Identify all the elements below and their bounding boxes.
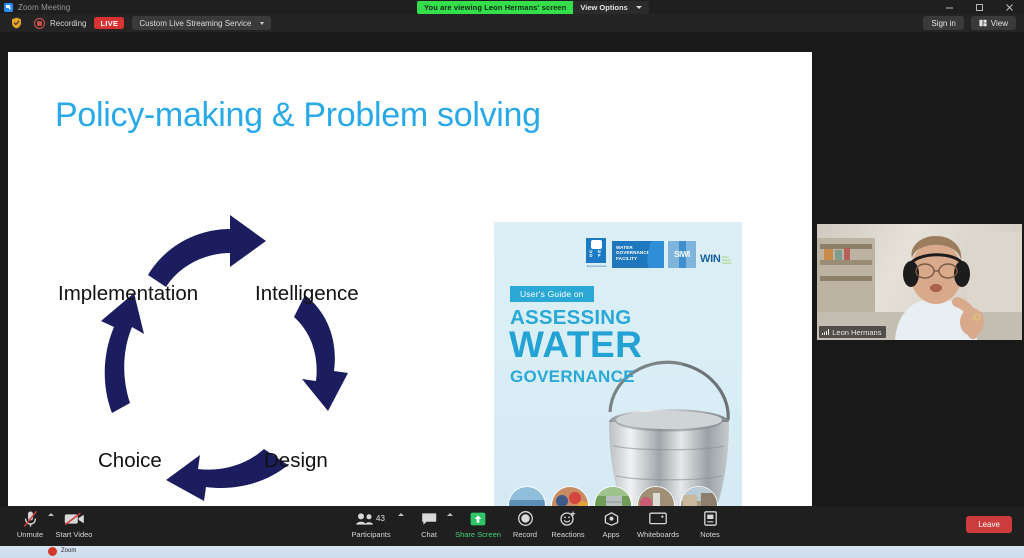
camera-muted-icon	[64, 509, 85, 528]
view-options-label: View Options	[580, 3, 627, 12]
win-logo-text: WIN	[700, 253, 720, 265]
taskbar-app-icon[interactable]	[48, 547, 57, 556]
record-circle-icon	[518, 509, 533, 528]
screen-share-banner: You are viewing Leon Hermans' screen Vie…	[417, 1, 649, 14]
shared-screen-slide: Policy-making & Problem solving Implemen…	[8, 52, 812, 509]
chevron-down-icon	[636, 6, 642, 9]
chevron-down-icon	[260, 22, 264, 25]
book-cover-line3: GOVERNANCE	[510, 367, 635, 387]
undp-letters: U N D P	[587, 250, 605, 258]
zoom-meeting-window: Zoom Meeting You are viewing Leon Herman…	[0, 0, 1024, 558]
book-cover-image: U N D P Empowered lives. WATER GOVERNANC…	[494, 222, 742, 509]
win-logo-tail: WaterIntegrityNetwork	[722, 256, 732, 265]
shield-security-icon[interactable]	[11, 17, 22, 29]
svg-text:43: 43	[376, 514, 385, 523]
share-banner-message: You are viewing Leon Hermans' screen	[417, 1, 573, 14]
policy-cycle-diagram: Implementation Intelligence Design Choic…	[40, 187, 400, 507]
recording-label: Recording	[50, 19, 86, 28]
siwi-logo-text: SIWI	[674, 250, 690, 259]
chat-bubble-icon	[421, 509, 438, 528]
start-video-button[interactable]: Start Video	[46, 509, 102, 539]
leave-button[interactable]: Leave	[966, 516, 1012, 533]
participant-webcam-feed	[817, 224, 1022, 340]
cycle-stage-design: Design	[264, 449, 328, 473]
slide-title: Policy-making & Problem solving	[55, 96, 541, 135]
recording-bar: Recording LIVE Custom Live Streaming Ser…	[0, 14, 1024, 32]
unmute-label: Unmute	[17, 530, 43, 539]
sign-in-label: Sign in	[931, 19, 955, 28]
view-options-button[interactable]: View Options	[573, 1, 648, 14]
chat-label: Chat	[421, 530, 437, 539]
participants-button[interactable]: 43 Participants	[343, 509, 399, 539]
cycle-stage-intelligence: Intelligence	[255, 282, 359, 306]
taskbar-app-label: Zoom	[61, 548, 76, 554]
notes-button[interactable]: Notes	[682, 509, 738, 539]
cycle-stage-implementation: Implementation	[58, 282, 198, 306]
participants-icon: 43	[355, 509, 387, 528]
signal-strength-icon	[822, 329, 829, 335]
apps-grid-icon	[604, 509, 619, 528]
live-badge: LIVE	[94, 17, 124, 29]
record-label: Record	[513, 530, 537, 539]
participant-video-tile[interactable]: Leon Hermans	[817, 224, 1022, 340]
close-icon[interactable]	[994, 0, 1024, 14]
book-cover-eyebrow: User's Guide on	[510, 286, 594, 302]
whiteboard-icon	[649, 509, 667, 528]
undp-logo: U N D P Empowered lives.	[586, 238, 608, 268]
participant-name-text: Leon Hermans	[832, 328, 881, 337]
view-label: View	[991, 19, 1008, 28]
whiteboards-label: Whiteboards	[637, 530, 679, 539]
recording-dot-icon[interactable]	[34, 18, 45, 29]
minimize-icon[interactable]	[934, 0, 964, 14]
meeting-toolbar: Unmute Start Video 43	[0, 506, 1024, 546]
windows-taskbar: Zoom	[0, 546, 1024, 558]
live-stream-service-selector[interactable]: Custom Live Streaming Service	[132, 16, 271, 30]
microphone-muted-icon	[22, 509, 39, 528]
start-video-label: Start Video	[56, 530, 93, 539]
book-cover-line2: WATER	[509, 326, 642, 364]
siwi-logo: SIWI	[668, 241, 696, 268]
whiteboards-button[interactable]: Whiteboards	[630, 509, 686, 539]
notes-icon	[704, 509, 717, 528]
live-stream-service-label: Custom Live Streaming Service	[139, 19, 251, 28]
water-governance-facility-logo: WATER GOVERNANCE FACILITY	[612, 241, 664, 268]
sign-in-button[interactable]: Sign in	[923, 16, 963, 30]
participants-label: Participants	[351, 530, 390, 539]
view-layout-button[interactable]: View	[971, 16, 1016, 30]
cycle-arrows	[40, 187, 400, 507]
layout-view-icon	[979, 19, 987, 27]
share-screen-icon	[470, 509, 486, 528]
maximize-icon[interactable]	[964, 0, 994, 14]
recording-bar-right-actions: Sign in View	[923, 14, 1016, 32]
win-logo: WIN WaterIntegrityNetwork	[700, 253, 732, 268]
book-cover-logos: U N D P Empowered lives. WATER GOVERNANC…	[586, 238, 732, 268]
reactions-label: Reactions	[551, 530, 584, 539]
apps-label: Apps	[602, 530, 619, 539]
cycle-stage-choice: Choice	[98, 449, 162, 473]
reactions-emoji-icon	[560, 509, 576, 528]
participant-name-label: Leon Hermans	[819, 326, 886, 338]
undp-subtitle: Empowered lives.	[586, 265, 608, 268]
window-title: Zoom Meeting	[18, 3, 70, 12]
window-controls	[934, 0, 1024, 14]
zoom-logo-icon	[4, 3, 13, 12]
share-screen-label: Share Screen	[455, 530, 501, 539]
notes-label: Notes	[700, 530, 720, 539]
